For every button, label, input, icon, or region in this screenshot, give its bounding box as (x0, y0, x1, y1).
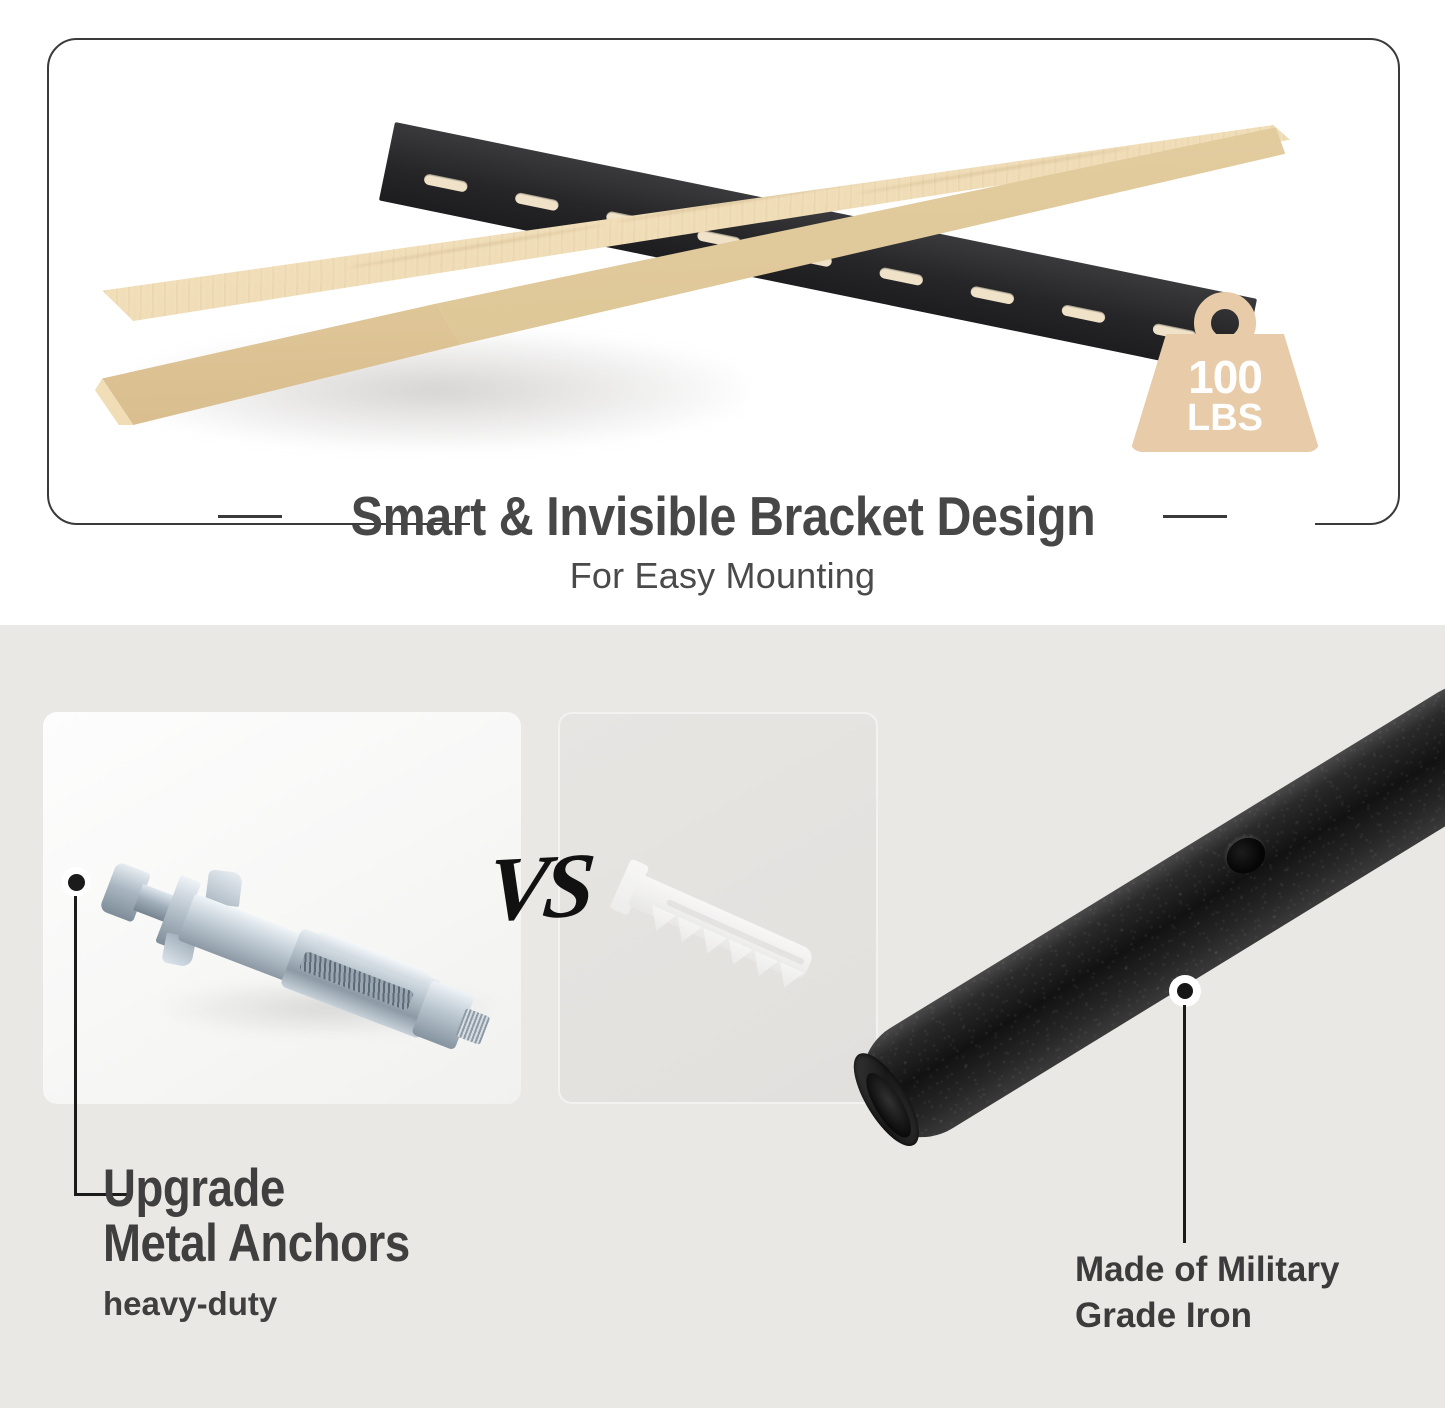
iron-pipe-label: Made of Military Grade Iron (1075, 1247, 1415, 1339)
headline-row: Smart & Invisible Bracket Design (0, 489, 1445, 544)
page-title: Smart & Invisible Bracket Design (350, 489, 1094, 544)
iron-pipe-title-line2: Grade Iron (1075, 1293, 1415, 1339)
pipe-body (840, 662, 1445, 1160)
weight-icon-body: 100 LBS (1130, 334, 1320, 452)
bracket-slot (423, 173, 468, 193)
callout-leader-line (1183, 1005, 1186, 1243)
metal-anchor-title-line2: Metal Anchors (103, 1217, 585, 1272)
iron-pipe-image (835, 700, 1445, 1260)
weight-unit: LBS (1187, 399, 1263, 437)
weight-capacity-badge: 100 LBS (1130, 292, 1320, 452)
metal-anchor-subtitle: heavy-duty (103, 1285, 663, 1323)
weight-value: 100 (1188, 355, 1262, 399)
headline-rule-right (1163, 515, 1227, 518)
versus-mark: VS (472, 829, 603, 955)
iron-pipe-callout-marker (1169, 975, 1201, 1007)
headline-rule-left (218, 515, 282, 518)
metal-anchor-label: Upgrade Metal Anchors heavy-duty (103, 1162, 663, 1323)
bracket-slot (879, 267, 924, 287)
metal-anchor-callout-marker (61, 867, 91, 897)
wood-grain (347, 224, 604, 270)
pipe-texture (840, 662, 1445, 1160)
metal-anchor-title-line1: Upgrade (103, 1162, 585, 1217)
iron-pipe-title-line1: Made of Military (1075, 1247, 1415, 1293)
page-subtitle: For Easy Mounting (0, 555, 1445, 597)
bracket-slot (514, 192, 559, 212)
callout-leader-line (74, 896, 77, 1196)
bracket-design-section: 100 LBS Smart & Invisible Bracket Design… (0, 0, 1445, 625)
bracket-slot (1061, 304, 1106, 324)
bracket-slot (970, 285, 1015, 305)
